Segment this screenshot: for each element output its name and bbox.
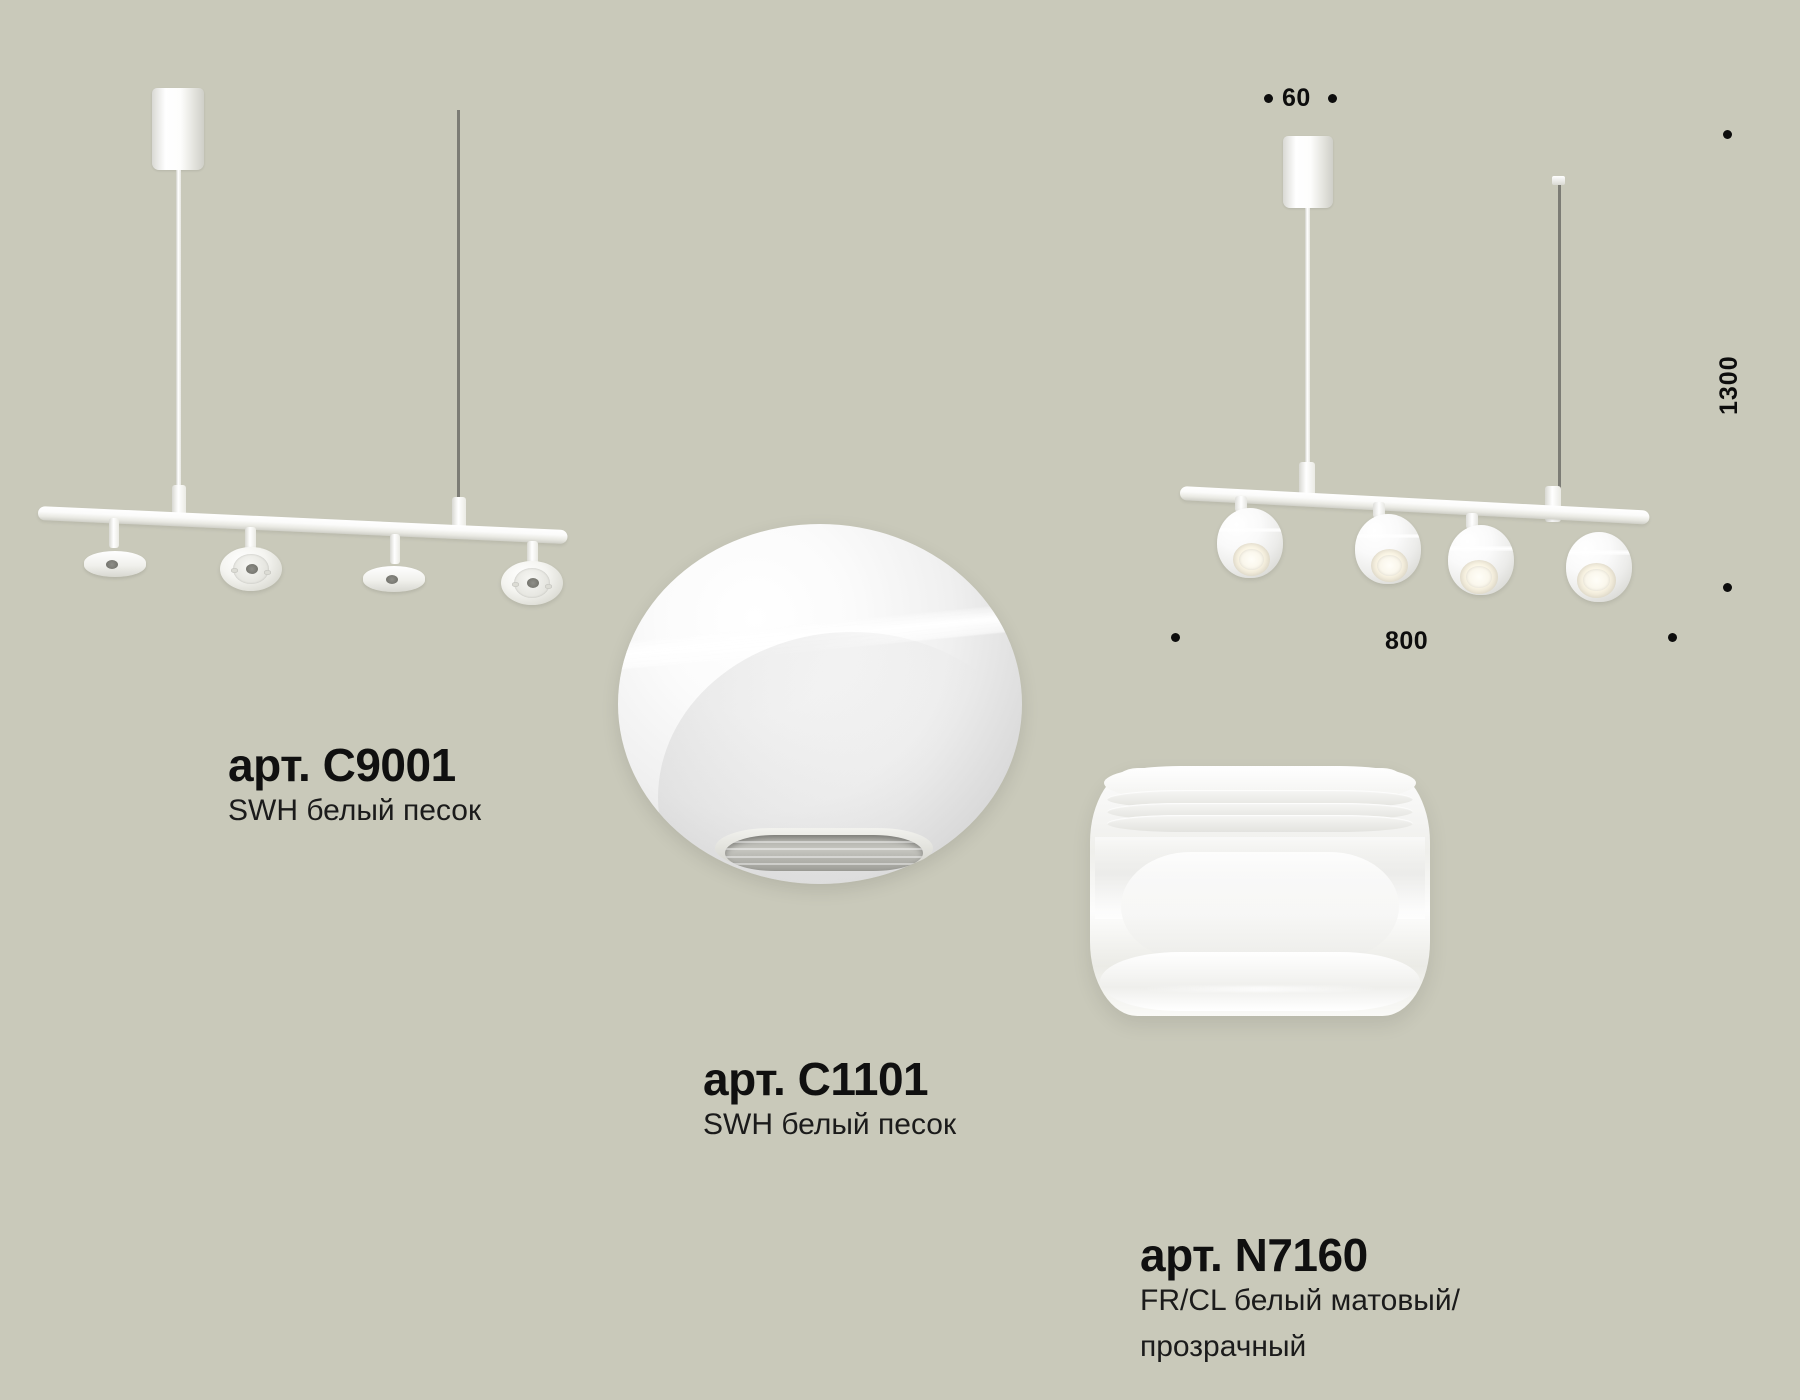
spotlight-2-lens-inner bbox=[1377, 555, 1402, 577]
color-label-c9001: SWH белый песок bbox=[228, 794, 481, 828]
wire-clip-dim bbox=[1552, 176, 1565, 185]
downlight-2-screw-b bbox=[264, 570, 271, 575]
downlight-2-core bbox=[246, 564, 258, 574]
suspension-cord-dim bbox=[1305, 208, 1310, 466]
dim-dot-width-right bbox=[1668, 633, 1677, 642]
spotlight-4-ring bbox=[1566, 550, 1632, 555]
downlight-4-screw-b bbox=[545, 584, 552, 589]
spotlight-4 bbox=[1566, 532, 1632, 602]
dim-dot-height-top bbox=[1723, 130, 1732, 139]
spotlight-2 bbox=[1355, 514, 1421, 584]
diffuser-n7160 bbox=[1090, 768, 1430, 1016]
canopy-cylinder-left bbox=[152, 88, 204, 170]
spotlight-1 bbox=[1217, 508, 1283, 578]
color-label-n7160-line2: прозрачный bbox=[1140, 1330, 1306, 1364]
color-label-n7160-line1: FR/CL белый матовый/ bbox=[1140, 1284, 1460, 1318]
spotlight-3-lens-inner bbox=[1466, 566, 1491, 588]
spotlight-1-lens-inner bbox=[1239, 549, 1264, 571]
diffuser-frosted-glass bbox=[1121, 852, 1400, 961]
article-label-c1101: арт. C1101 bbox=[703, 1052, 928, 1106]
spotlight-4-lens-inner bbox=[1583, 569, 1609, 591]
spotlight-1-ring bbox=[1217, 528, 1283, 533]
diffuser-bottom-rim bbox=[1100, 952, 1420, 1012]
canopy-cylinder-dim bbox=[1283, 136, 1333, 208]
dim-label-height: 1300 bbox=[1715, 355, 1744, 415]
downlight-3-stem bbox=[390, 534, 400, 564]
article-label-c9001: арт. C9001 bbox=[228, 738, 456, 792]
dim-dot-diameter-right bbox=[1328, 94, 1337, 103]
color-label-c1101: SWH белый песок bbox=[703, 1108, 956, 1142]
dim-dot-height-bottom bbox=[1723, 583, 1732, 592]
dim-label-width: 800 bbox=[1385, 627, 1428, 656]
downlight-1-core bbox=[106, 560, 118, 569]
product-diagram-canvas: арт. C9001 SWH белый песок арт. C1101 SW… bbox=[0, 0, 1800, 1400]
downlight-1-stem bbox=[109, 518, 119, 548]
spotlight-3 bbox=[1448, 525, 1514, 595]
spotlight-2-ring bbox=[1355, 534, 1421, 539]
downlight-3-core bbox=[386, 575, 398, 584]
dim-dot-diameter-left bbox=[1264, 94, 1273, 103]
suspension-wire-right bbox=[457, 110, 460, 502]
downlight-4-core bbox=[527, 578, 539, 588]
dim-label-diameter: 60 bbox=[1282, 84, 1311, 113]
diffuser-thread-3 bbox=[1107, 815, 1413, 832]
suspension-wire-dim bbox=[1558, 180, 1561, 492]
spotlight-3-ring bbox=[1448, 546, 1514, 551]
globe-aperture bbox=[725, 835, 923, 871]
suspension-cord-left bbox=[176, 170, 181, 492]
diffuser-sheen-bottom bbox=[1138, 986, 1383, 992]
downlight-4-screw-a bbox=[512, 582, 519, 587]
downlight-2-screw-a bbox=[231, 568, 238, 573]
dim-dot-width-left bbox=[1171, 633, 1180, 642]
globe-shade bbox=[618, 524, 1022, 884]
article-label-n7160: арт. N7160 bbox=[1140, 1228, 1368, 1282]
